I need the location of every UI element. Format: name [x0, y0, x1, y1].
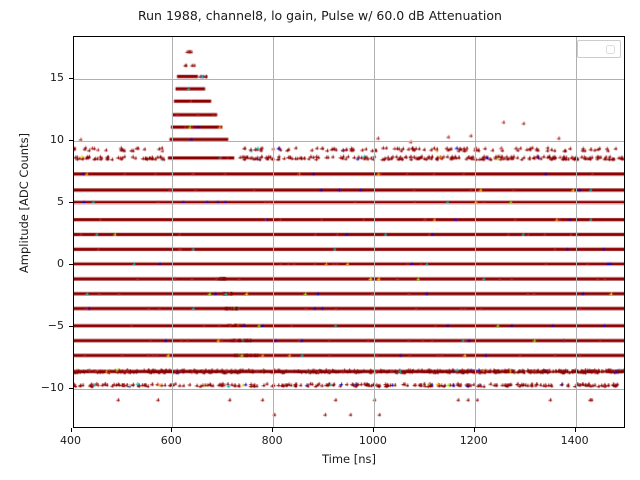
y-tick-label: 15: [24, 71, 64, 84]
y-gridline: [74, 265, 624, 266]
y-tick-label: 0: [24, 257, 64, 270]
y-tick-label: 5: [24, 195, 64, 208]
x-tick-label: 600: [141, 434, 201, 447]
x-gridline: [576, 37, 577, 427]
y-tick: [69, 264, 73, 265]
x-tick-label: 400: [41, 434, 101, 447]
y-gridline: [74, 203, 624, 204]
y-tick-label: −10: [24, 381, 64, 394]
x-tick: [272, 428, 273, 432]
y-gridline: [74, 141, 624, 142]
y-tick: [69, 326, 73, 327]
x-tick: [373, 428, 374, 432]
legend-marker-icon: [606, 45, 615, 54]
x-tick: [171, 428, 172, 432]
y-tick: [69, 140, 73, 141]
x-gridline: [172, 37, 173, 427]
x-gridline: [273, 37, 274, 427]
matplotlib-figure: Run 1988, channel8, lo gain, Pulse w/ 60…: [0, 0, 640, 480]
x-tick-label: 1400: [545, 434, 605, 447]
y-gridline: [74, 79, 624, 80]
y-tick-label: 10: [24, 133, 64, 146]
x-gridline: [374, 37, 375, 427]
x-tick: [575, 428, 576, 432]
scatter-plot-canvas: [74, 37, 624, 427]
x-tick-label: 800: [242, 434, 302, 447]
y-gridline: [74, 327, 624, 328]
y-tick: [69, 202, 73, 203]
x-tick: [71, 428, 72, 432]
plot-axes: [73, 36, 625, 428]
x-tick-label: 1200: [444, 434, 504, 447]
y-tick-label: −5: [24, 319, 64, 332]
x-axis-label: Time [ns]: [73, 452, 625, 466]
x-tick-label: 1000: [343, 434, 403, 447]
x-gridline: [475, 37, 476, 427]
x-tick: [474, 428, 475, 432]
chart-title: Run 1988, channel8, lo gain, Pulse w/ 60…: [0, 8, 640, 23]
y-tick: [69, 78, 73, 79]
legend-box[interactable]: [577, 40, 621, 58]
y-gridline: [74, 389, 624, 390]
y-tick: [69, 388, 73, 389]
